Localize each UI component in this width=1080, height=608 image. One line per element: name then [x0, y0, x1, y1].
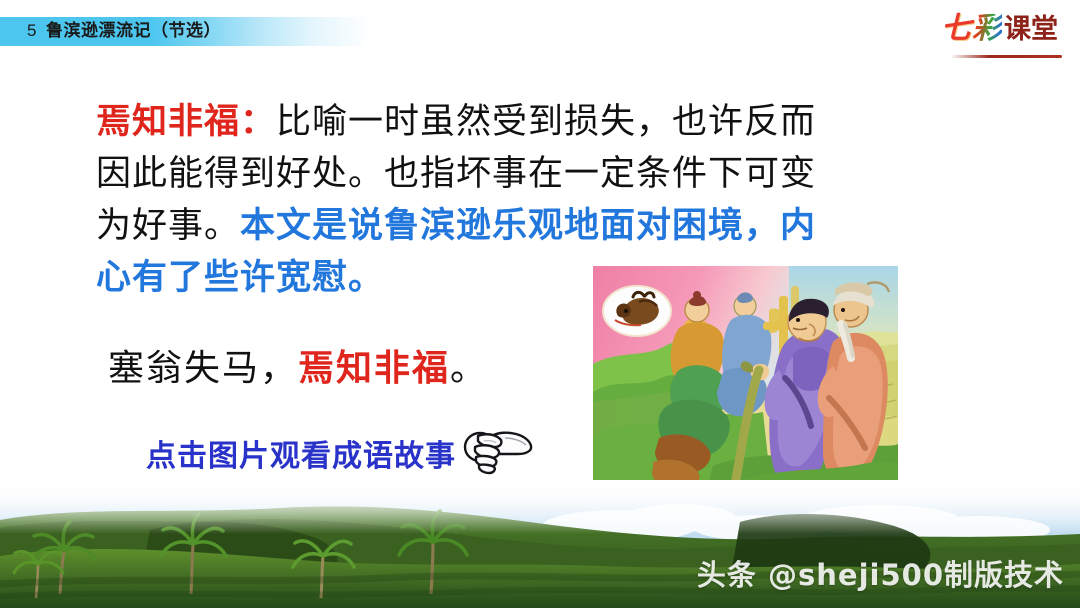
- definition-line: 因此能得到好处。也指坏事在一定条件下可变: [96, 148, 976, 200]
- watermark-text: 头条 @sheji500制版技术: [697, 552, 1064, 594]
- definition-line: 为好事。本文是说鲁滨逊乐观地面对困境，内: [96, 200, 976, 252]
- proverb-part-second: 焉知非福: [298, 347, 450, 389]
- click-hint-label: 点击图片观看成语故事: [146, 431, 456, 475]
- proverb-part-first: 塞翁失马，: [108, 348, 298, 389]
- logo-underline: [950, 55, 1062, 58]
- lesson-title: 鲁滨逊漂流记（节选）: [46, 21, 221, 41]
- definition-note-text: 本文是说鲁滨逊乐观地面对困境，内: [240, 205, 816, 246]
- page-title: 5鲁滨逊漂流记（节选）: [27, 15, 221, 47]
- lesson-number: 5: [27, 21, 37, 40]
- definition-text: 为好事。: [96, 206, 240, 246]
- brand-logo: 七彩课堂: [941, 14, 1058, 54]
- definition-note-text: 心有了些许宽慰。: [96, 257, 384, 298]
- pointing-hand-right-icon: [458, 424, 536, 481]
- logo-text-ketang: 课堂: [1004, 16, 1058, 43]
- definition-text: 比喻一时虽然受到损失，也许反而: [276, 102, 816, 142]
- logo-char-cai: 彩: [972, 14, 1002, 44]
- idiom-story-illustration[interactable]: [593, 266, 898, 504]
- definition-line: 焉知非福：比喻一时虽然受到损失，也许反而: [96, 96, 976, 148]
- click-image-hint[interactable]: 点击图片观看成语故事: [146, 424, 536, 481]
- proverb-text: 塞翁失马，焉知非福。: [108, 344, 488, 393]
- slide-root: 5鲁滨逊漂流记（节选） 七彩课堂 焉知非福：比喻一时虽然受到损失，也许反而 因此…: [0, 0, 1080, 608]
- logo-char-qi: 七: [941, 14, 971, 44]
- definition-term: 焉知非福：: [96, 101, 276, 142]
- proverb-period: 。: [450, 348, 488, 389]
- definition-text: 因此能得到好处。也指坏事在一定条件下可变: [96, 154, 816, 194]
